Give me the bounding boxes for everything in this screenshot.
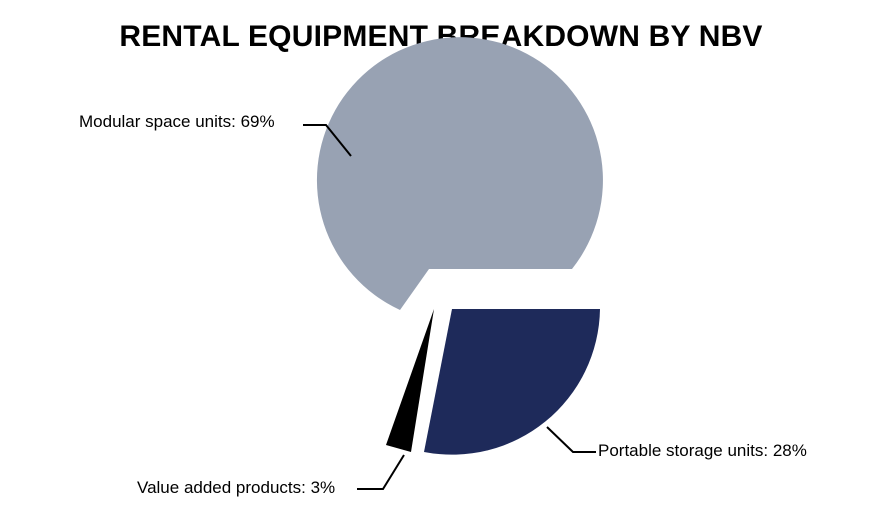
leader-line-value-added-products: [357, 455, 404, 489]
slice-label-portable-storage-units: Portable storage units: 28%: [598, 441, 807, 461]
pie-slice-modular-space-units[interactable]: [317, 37, 603, 310]
slice-label-modular-space-units: Modular space units: 69%: [79, 112, 275, 132]
pie-chart-figure: RENTAL EQUIPMENT BREAKDOWN BY NBV Modula…: [0, 0, 882, 518]
pie-slice-portable-storage-units[interactable]: [424, 309, 600, 455]
slice-label-value-added-products: Value added products: 3%: [137, 478, 335, 498]
pie-slice-value-added-products[interactable]: [386, 309, 434, 452]
leader-line-portable-storage-units: [547, 427, 596, 452]
